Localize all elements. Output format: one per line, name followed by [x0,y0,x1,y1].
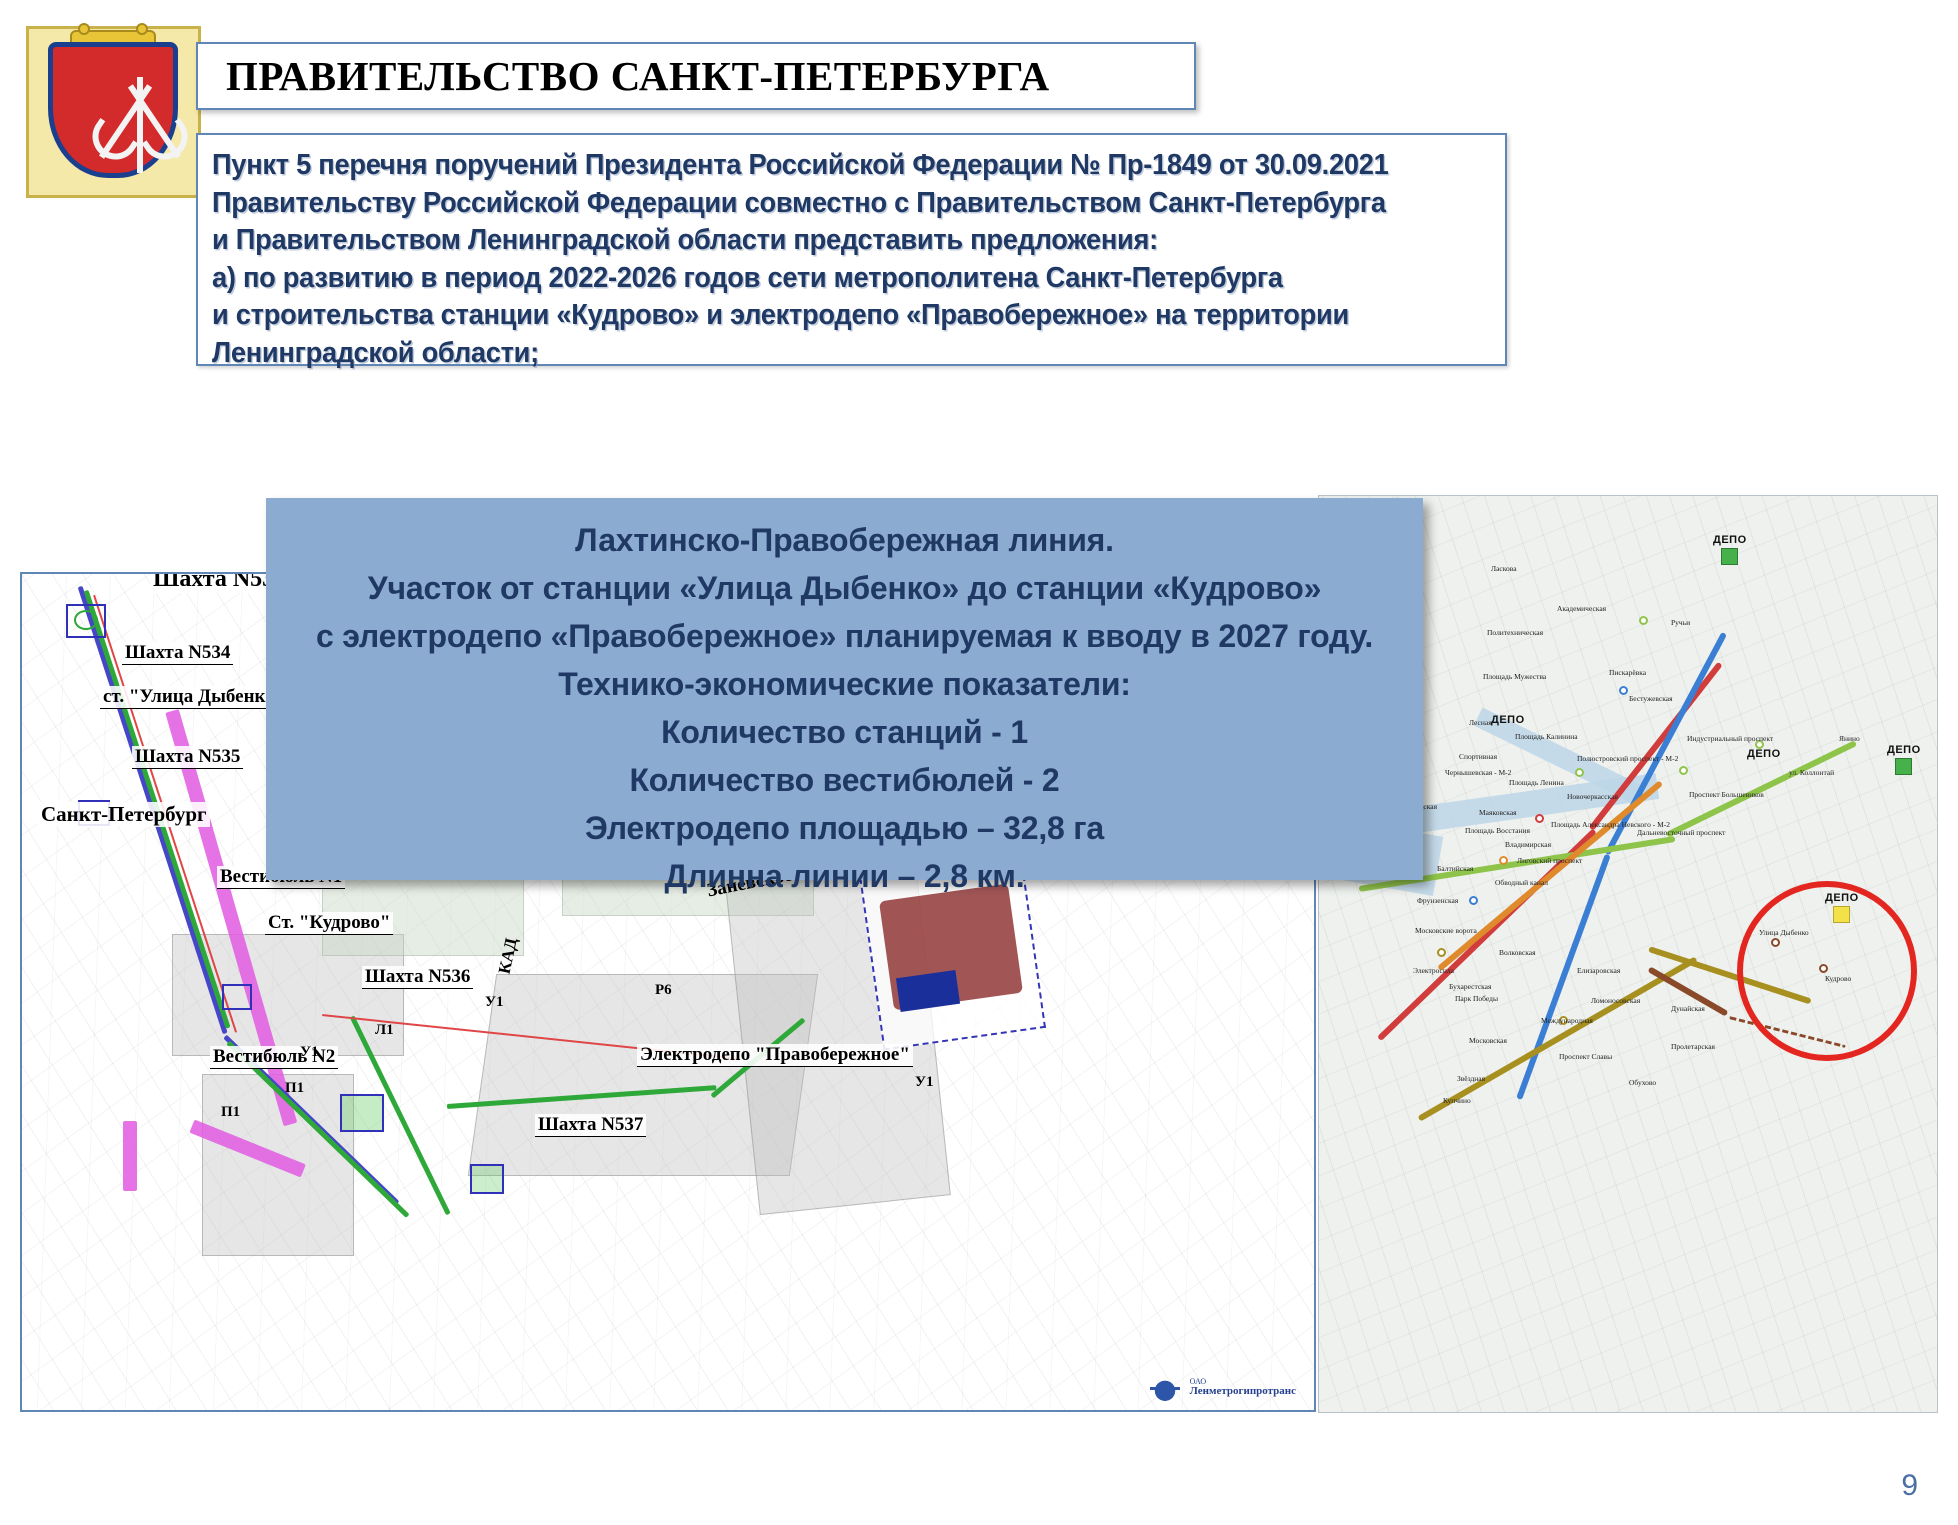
station-label: Купчино [1443,1096,1471,1105]
station-label: Бестужевская [1629,694,1673,703]
highlight-circle-kudrovo [1737,881,1917,1061]
river-anchor-icon [128,84,181,159]
station-label: Лесная [1469,718,1492,727]
station-label: Полюстровский проспект - М-2 [1577,754,1678,763]
depot-marker-west[interactable]: ДЕПО [1491,714,1525,726]
city-boundary-line [123,1121,137,1191]
designer-stamp: ОАО Ленметрогипротранс [1148,1374,1296,1402]
station-label: Ручьи [1671,618,1690,627]
station-label: ул. Коллонтай [1789,768,1834,777]
summary-line-vestibules-count: Количество вестибюлей - 2 [266,756,1423,804]
station-label: Волковская [1499,948,1536,957]
station-label: Политехническая [1487,628,1543,637]
station-label: Проспект Большевиков [1689,790,1764,799]
depot-marker-center[interactable]: ДЕПО [1747,748,1781,760]
station-label: Лиговский проспект [1517,856,1582,865]
map-label-saint-petersburg: Санкт-Петербург [38,802,210,827]
map-label-depot-pravoberezhnoe: Электродепо "Правобережное" [637,1044,913,1067]
map-label-u1-c: У1 [912,1074,937,1091]
station-label: Московская [1469,1036,1507,1045]
station-label: Янино [1839,734,1860,743]
station-dot[interactable] [1437,948,1446,957]
station-label: Академическая [1557,604,1606,613]
station-label: Владимирская [1505,840,1551,849]
map-label-u1-b: У1 [297,1044,322,1061]
map-label-shaft-536: Шахта N536 [362,966,473,989]
station-dot[interactable] [1619,686,1628,695]
station-label: Маяковская [1479,808,1517,817]
shaft-534-zone [74,610,98,630]
directive-line-5: и строительства станции «Кудрово» и элек… [212,297,1427,335]
vestibule-2-marker[interactable] [340,1094,384,1132]
station-label: Пролетарская [1671,1042,1715,1051]
map-label-shaft-537: Шахта N537 [535,1114,646,1137]
station-label: Парк Победы [1455,994,1498,1003]
directive-line-4: а) по развитию в период 2022-2026 годов … [212,260,1427,298]
summary-line-section: Участок от станции «Улица Дыбенко» до ст… [266,564,1423,612]
coat-of-arms-emblem [26,26,201,198]
station-label: Пискарёвка [1609,668,1646,677]
station-label: Проспект Славы [1559,1052,1612,1061]
station-label: Площадь Мужества [1483,672,1546,681]
summary-line-stations-count: Количество станций - 1 [266,708,1423,756]
map-label-station-kudrovo: Ст. "Кудрово" [265,912,393,935]
summary-line-depot-area: Электродепо площадью – 32,8 га [266,804,1423,852]
summary-line-title: Лахтинско-Правобережная линия. [266,516,1423,564]
station-label: Обухово [1629,1078,1656,1087]
station-label: Электросила [1413,966,1454,975]
summary-line-length: Длинна линии – 2,8 км. [266,852,1423,900]
station-label: Площадь Калинина [1515,732,1578,741]
map-label-u1-a: У1 [482,994,507,1011]
stamp-org-name: Ленметрогипротранс [1190,1386,1296,1398]
station-label: Площадь Восстания [1465,826,1530,835]
depot-marker-east[interactable]: ДЕПО [1887,744,1921,775]
directive-line-3: и Правительством Ленинградской области п… [212,222,1427,260]
station-label: Ласкова [1491,564,1517,573]
station-dot[interactable] [1535,814,1544,823]
summary-line-indicators-header: Технико-экономические показатели: [266,660,1423,708]
station-label: Бухарестская [1449,982,1491,991]
depot-label: ДЕПО [1747,748,1781,760]
depot-label: ДЕПО [1887,744,1921,756]
map-label-l1: Л1 [372,1022,397,1039]
depot-square-icon [1895,758,1912,775]
directive-line-2: Правительству Российской Федерации совме… [212,185,1427,223]
directive-line-6: Ленинградской области; [212,335,1427,373]
slide-number: 9 [1901,1469,1918,1503]
station-label: Московские ворота [1415,926,1477,935]
station-label: Звёздная [1457,1074,1485,1083]
map-label-shaft-534: Шахта N534 [122,642,233,665]
shield-icon [48,42,178,178]
map-label-p1-b: П1 [218,1104,243,1121]
directive-line-1: Пункт 5 перечня поручений Президента Рос… [212,147,1427,185]
shaft-536-marker[interactable] [222,984,252,1010]
map-label-station-dybenko: ст. "Улица Дыбенко" [100,686,288,709]
station-label: Дальневосточный проспект [1637,828,1725,837]
page-title: ПРАВИТЕЛЬСТВО САНКТ-ПЕТЕРБУРГА [198,52,1050,100]
station-dot[interactable] [1679,766,1688,775]
shaft-537-marker[interactable] [470,1164,504,1194]
station-label: Площадь Ленина [1509,778,1564,787]
station-label: Елизаровская [1577,966,1620,975]
summary-line-depot: с электродепо «Правобережное» планируема… [266,612,1423,660]
station-dot[interactable] [1575,768,1584,777]
map-label-shaft-535: Шахта N535 [132,746,243,769]
station-label: Ломоносовская [1591,996,1640,1005]
page-title-box: ПРАВИТЕЛЬСТВО САНКТ-ПЕТЕРБУРГА [196,42,1196,110]
station-label: Чернышевская - М-2 [1445,768,1511,777]
station-label: Балтийская [1437,864,1473,873]
depot-label: ДЕПО [1713,534,1747,546]
station-dot[interactable] [1639,616,1648,625]
station-label: Фрунзенская [1417,896,1458,905]
lenmetrogiprotrans-logo-icon [1148,1374,1182,1402]
station-label: Спортивная [1459,752,1497,761]
station-label: Индустриальный проспект [1687,734,1773,743]
station-label: Новочеркасская [1567,792,1618,801]
station-dot[interactable] [1499,856,1508,865]
station-dot[interactable] [1469,896,1478,905]
station-label: Международная [1541,1016,1593,1025]
station-label: Обводный канал [1495,878,1548,887]
depot-marker-north[interactable]: ДЕПО [1713,534,1747,565]
map-label-p1-a: П1 [282,1080,307,1097]
station-label: Дунайская [1671,1004,1705,1013]
directive-text-box: Пункт 5 перечня поручений Президента Рос… [196,133,1507,366]
map-label-r6: Р6 [652,982,675,999]
depot-square-icon [1721,548,1738,565]
project-summary-panel: Лахтинско-Правобережная линия. Участок о… [266,498,1423,880]
depot-label: ДЕПО [1491,714,1525,726]
